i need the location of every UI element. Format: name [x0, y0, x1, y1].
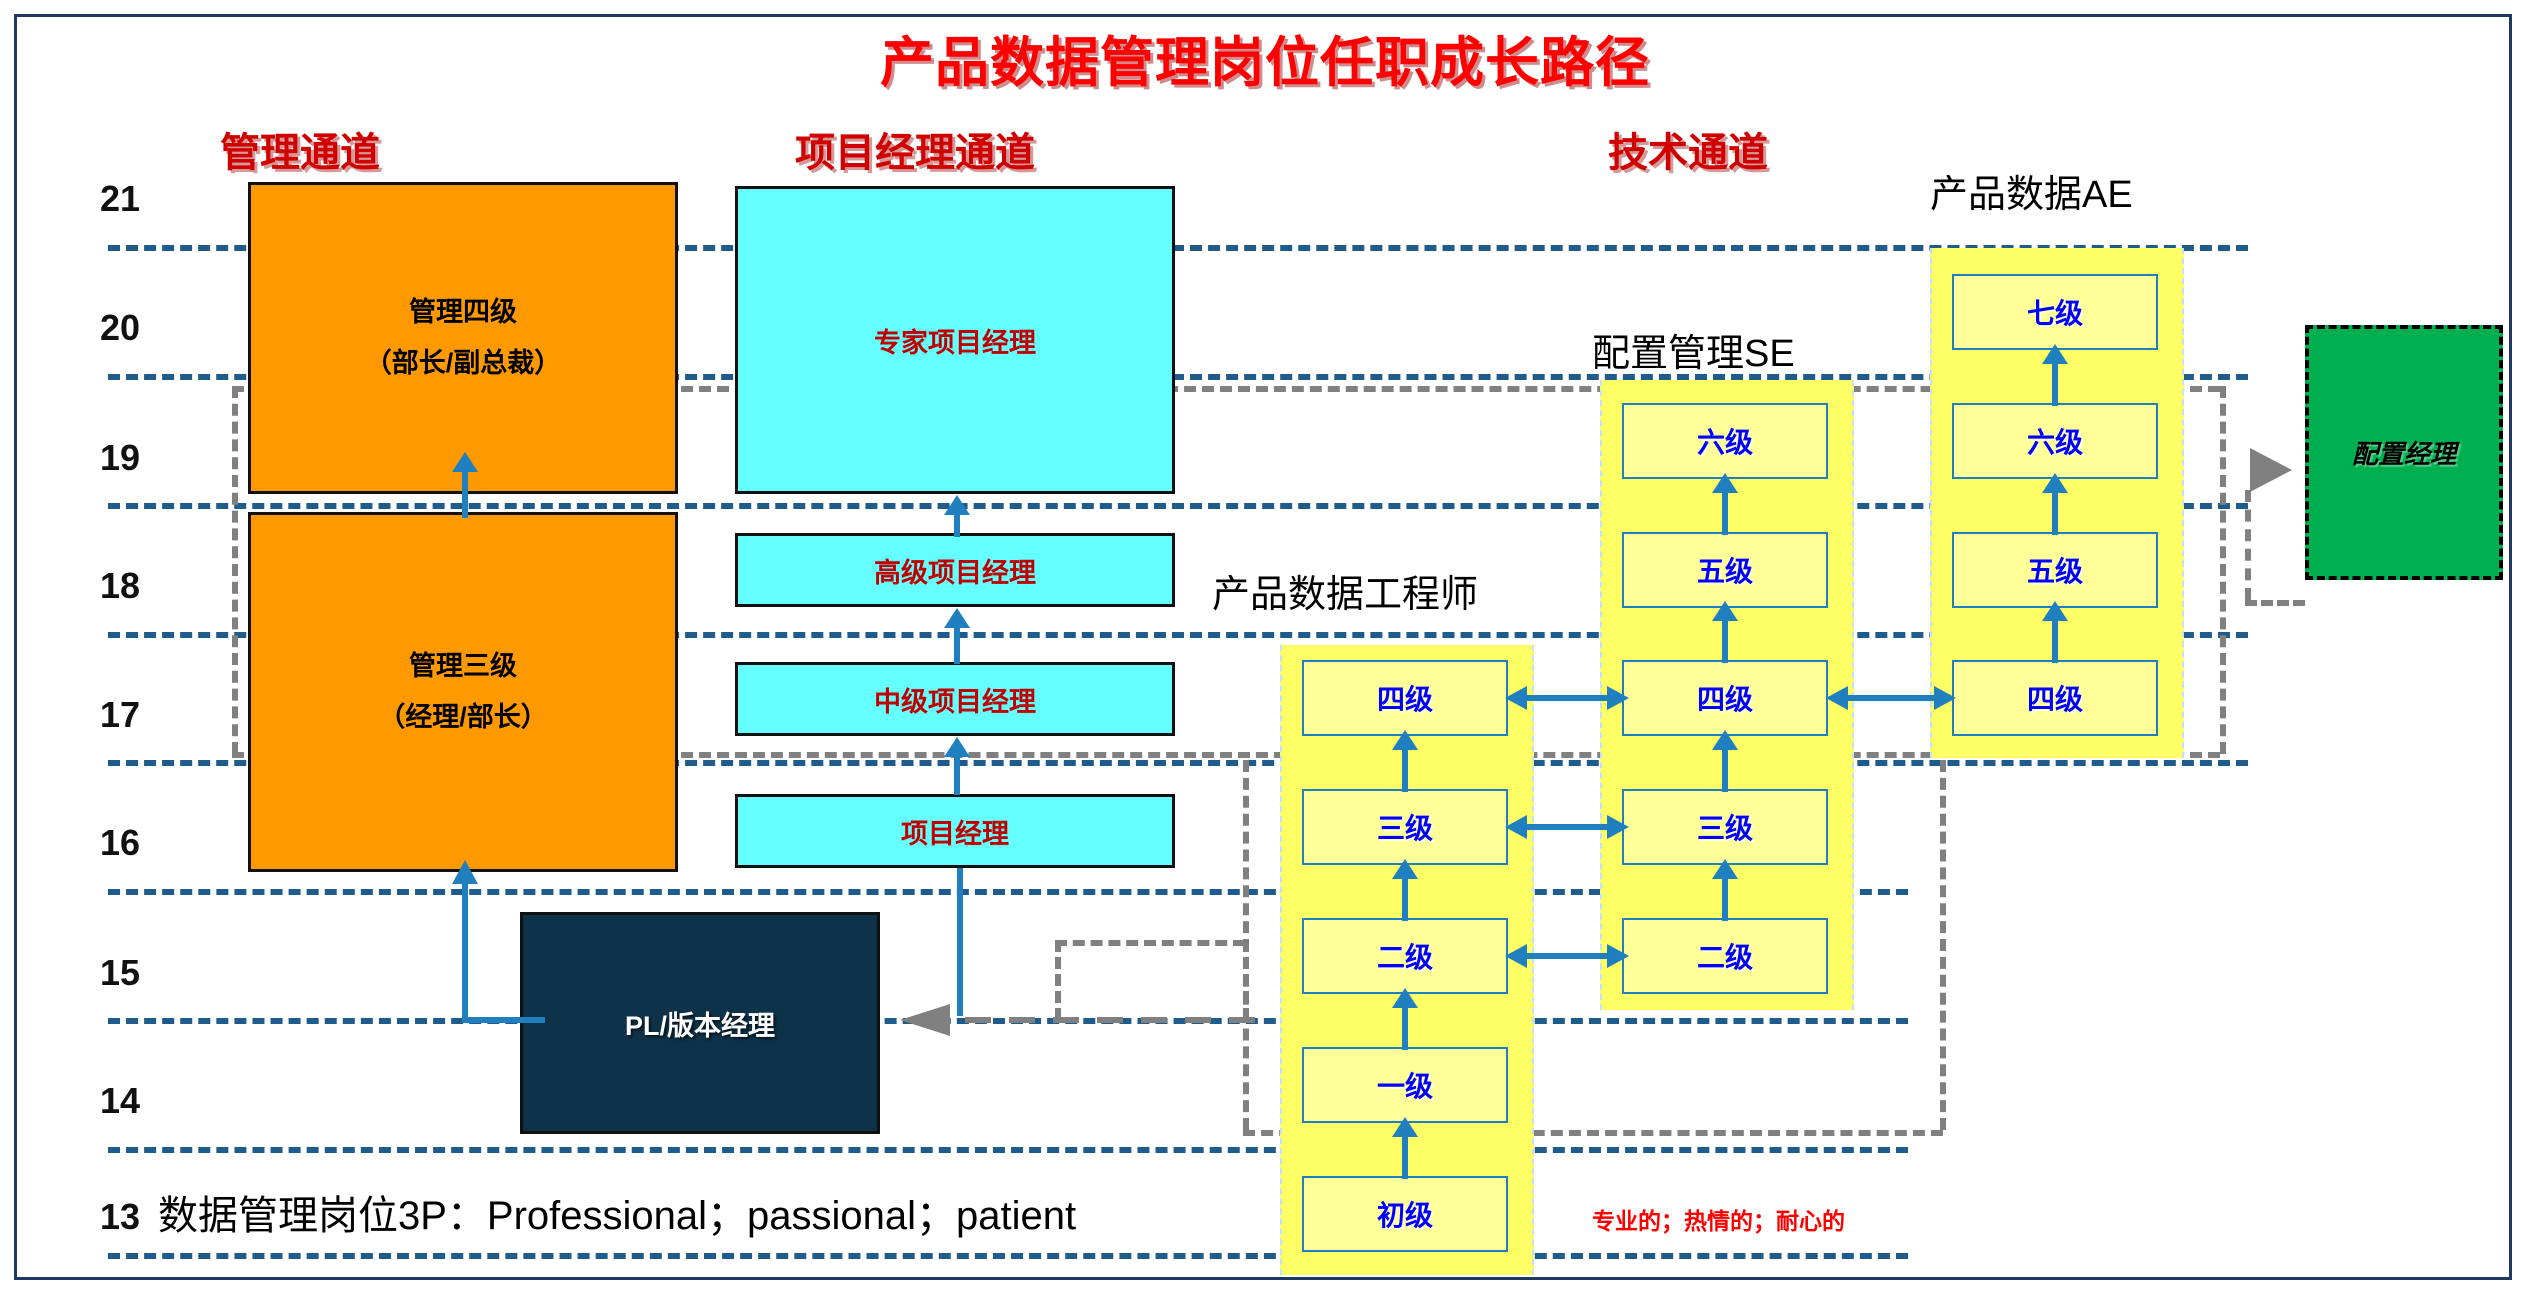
management-level-4-box[interactable]: 管理四级 （部长/副总裁）: [248, 182, 678, 494]
group-label-config-management-se: 配置管理SE: [1592, 322, 1795, 377]
ae-level-7[interactable]: 七级: [1952, 274, 2158, 350]
channel-header-management: 管理通道: [220, 120, 380, 178]
arrow-eng3-se3-bidirectional: [1505, 811, 1629, 843]
gray-connector-horizontal: [2245, 600, 2305, 606]
config-manager-label: 配置经理: [2352, 434, 2456, 471]
arrow-pl-to-management: [440, 860, 550, 1040]
management-level-4-title: 管理四级: [409, 287, 517, 338]
row-number-13: 13: [100, 1196, 140, 1238]
arrow-eng4-se4-bidirectional: [1505, 682, 1629, 714]
row-number-14: 14: [100, 1080, 140, 1122]
gray-connector-vertical: [2245, 490, 2251, 600]
gray-hook-to-engineer: [1243, 940, 1249, 1020]
gray-lower-right-edge: [1940, 760, 1946, 1130]
pm-mid-box[interactable]: 中级项目经理: [735, 662, 1175, 736]
arrow-eng2-to-eng3: [1385, 859, 1425, 925]
footer-3p-text: 数据管理岗位3P：Professional；passional；patient: [158, 1183, 1076, 1241]
arrow-pm-mid-to-senior: [937, 608, 977, 664]
engineer-level-entry[interactable]: 初级: [1302, 1176, 1508, 1252]
arrow-se5-to-se6: [1705, 473, 1745, 539]
se-level-2[interactable]: 二级: [1622, 918, 1828, 994]
channel-header-project-manager: 项目经理通道: [795, 120, 1035, 178]
pm-base-label: 项目经理: [901, 812, 1009, 851]
row-number-16: 16: [100, 822, 140, 864]
engineer-level-1[interactable]: 一级: [1302, 1047, 1508, 1123]
arrow-mgmt3-to-mgmt4: [445, 452, 485, 518]
ae-level-5[interactable]: 五级: [1952, 532, 2158, 608]
pm-senior-box[interactable]: 高级项目经理: [735, 533, 1175, 607]
gray-hook-horizontal: [1055, 940, 1245, 946]
group-label-product-data-ae: 产品数据AE: [1930, 163, 2133, 218]
gray-region-right-edge: [2220, 386, 2226, 754]
pl-version-manager-box[interactable]: PL/版本经理: [520, 912, 880, 1134]
arrow-se2-to-se3: [1705, 859, 1745, 925]
arrow-eng3-to-eng4: [1385, 730, 1425, 796]
arrow-pm-senior-to-expert: [937, 495, 977, 537]
arrow-se4-to-se5: [1705, 601, 1745, 667]
row-number-20: 20: [100, 307, 140, 349]
group-label-product-data-engineer: 产品数据工程师: [1212, 563, 1478, 618]
config-manager-box[interactable]: 配置经理: [2305, 325, 2503, 580]
engineer-level-3[interactable]: 三级: [1302, 789, 1508, 865]
management-level-3-subtitle: （经理/部长）: [378, 692, 548, 743]
management-level-4-subtitle: （部长/副总裁）: [365, 338, 562, 389]
arrow-se3-to-se4: [1705, 730, 1745, 796]
arrow-ae4-to-ae5: [2035, 601, 2075, 667]
se-level-3[interactable]: 三级: [1622, 789, 1828, 865]
engineer-level-4[interactable]: 四级: [1302, 660, 1508, 736]
arrow-entry-to-eng1: [1385, 1117, 1425, 1183]
arrow-pm-base-to-mid: [937, 737, 977, 795]
pl-version-manager-label: PL/版本经理: [625, 1004, 775, 1043]
management-level-3-box[interactable]: 管理三级 （经理/部长）: [248, 512, 678, 872]
arrow-se4-ae4-bidirectional: [1826, 682, 1956, 714]
diagram-canvas: 产品数据管理岗位任职成长路径 管理通道 项目经理通道 技术通道 21 20 19…: [0, 0, 2530, 1298]
gray-arrow-to-config-manager: [2230, 440, 2310, 500]
pm-expert-box[interactable]: 专家项目经理: [735, 186, 1175, 494]
grid-line-19: [108, 503, 2248, 509]
ae-level-6[interactable]: 六级: [1952, 403, 2158, 479]
arrow-ae5-to-ae6: [2035, 473, 2075, 539]
channel-header-technical: 技术通道: [1608, 120, 1768, 178]
row-number-17: 17: [100, 694, 140, 736]
management-level-3-title: 管理三级: [409, 641, 517, 692]
pm-base-box[interactable]: 项目经理: [735, 794, 1175, 868]
gray-region-left-edge: [232, 386, 238, 754]
se-level-6[interactable]: 六级: [1622, 403, 1828, 479]
row-number-19: 19: [100, 437, 140, 479]
row-number-18: 18: [100, 565, 140, 607]
row-number-15: 15: [100, 952, 140, 994]
row-number-21: 21: [100, 178, 140, 220]
pm-expert-label: 专家项目经理: [874, 321, 1036, 360]
engineer-level-2[interactable]: 二级: [1302, 918, 1508, 994]
footer-note-text: 专业的；热情的；耐心的: [1592, 1202, 1845, 1236]
ae-level-4[interactable]: 四级: [1952, 660, 2158, 736]
arrow-eng1-to-eng2: [1385, 988, 1425, 1054]
arrow-ae6-to-ae7: [2035, 344, 2075, 410]
se-level-5[interactable]: 五级: [1622, 532, 1828, 608]
arrow-eng2-se2-bidirectional: [1505, 940, 1629, 972]
se-level-4[interactable]: 四级: [1622, 660, 1828, 736]
pm-mid-label: 中级项目经理: [874, 680, 1036, 719]
page-title: 产品数据管理岗位任职成长路径: [0, 18, 2530, 97]
grid-line-14: [108, 1147, 1908, 1153]
grid-line-13: [108, 1253, 1908, 1259]
pm-senior-label: 高级项目经理: [874, 551, 1036, 590]
